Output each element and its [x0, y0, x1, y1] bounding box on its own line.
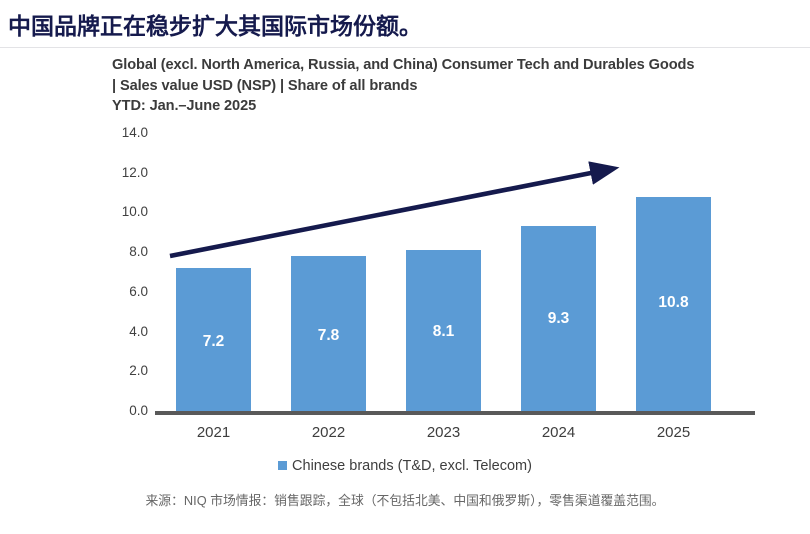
y-axis-tick-label: 12.0 [100, 166, 148, 180]
x-axis-tick-label: 2024 [521, 423, 596, 443]
legend-item-label: Chinese brands (T&D, excl. Telecom) [292, 458, 532, 474]
x-axis-tick-label: 2021 [176, 423, 251, 443]
x-axis-tick-label: 2022 [291, 423, 366, 443]
bar-value-label: 7.2 [176, 333, 251, 351]
legend-swatch-icon [278, 461, 287, 470]
y-axis-tick-label: 10.0 [100, 205, 148, 219]
bar-value-label: 7.8 [291, 327, 366, 345]
y-axis-tick-label: 2.0 [100, 364, 148, 378]
bar-chart-plot-area: 0.02.04.06.08.010.012.014.0 7.220217.820… [0, 0, 810, 534]
source-note: 来源：NIQ 市场情报：销售跟踪，全球（不包括北美、中国和俄罗斯），零售渠道覆盖… [0, 492, 810, 509]
chart-legend: Chinese brands (T&D, excl. Telecom) [0, 458, 810, 474]
legend-item-chinese-brands[interactable]: Chinese brands (T&D, excl. Telecom) [278, 458, 532, 474]
x-axis-tick-label: 2023 [406, 423, 481, 443]
y-axis-tick-label: 8.0 [100, 245, 148, 259]
x-axis-tick-label: 2025 [636, 423, 711, 443]
y-axis-tick-label: 4.0 [100, 325, 148, 339]
y-axis-tick-label: 0.0 [100, 404, 148, 418]
bar-value-label: 8.1 [406, 323, 481, 341]
y-axis-tick-label: 6.0 [100, 285, 148, 299]
y-axis-tick-labels: 0.02.04.06.08.010.012.014.0 [100, 0, 148, 534]
y-axis-tick-label: 14.0 [100, 126, 148, 140]
bar-value-label: 10.8 [636, 294, 711, 312]
x-axis-line [155, 411, 755, 415]
bar-value-label: 9.3 [521, 310, 596, 328]
